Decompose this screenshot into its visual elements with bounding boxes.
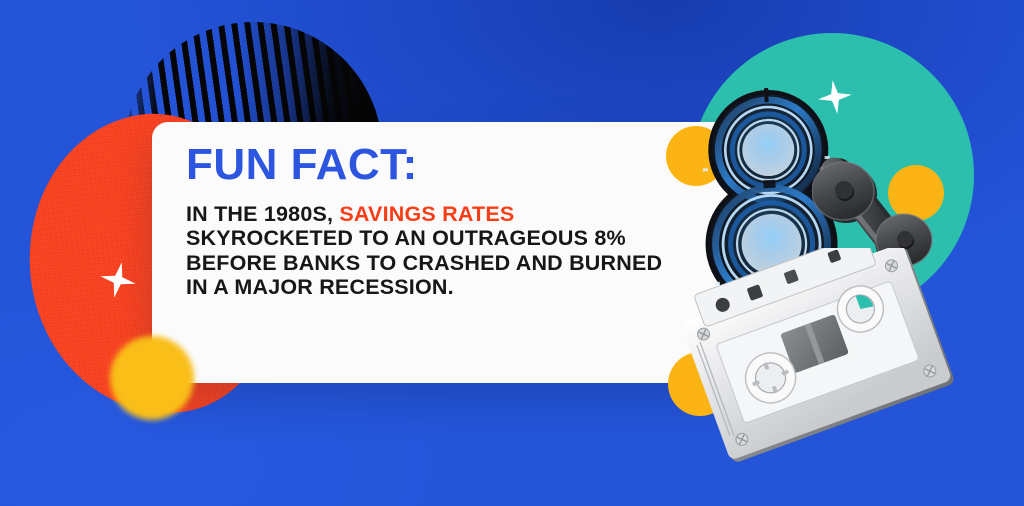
fun-fact-card: FUN FACT: IN THE 1980S, SAVINGS RATES SK… bbox=[152, 122, 742, 383]
fun-fact-graphic: FUN FACT: IN THE 1980S, SAVINGS RATES SK… bbox=[0, 0, 1024, 506]
body-highlight: SAVINGS RATES bbox=[339, 202, 514, 226]
page-title: FUN FACT: bbox=[186, 142, 722, 188]
card-content: FUN FACT: IN THE 1980S, SAVINGS RATES SK… bbox=[186, 142, 722, 300]
yellow-dot-left bbox=[110, 336, 194, 420]
body-rest: SKYROCKETED TO AN OUTRAGEOUS 8% BEFORE B… bbox=[186, 226, 662, 299]
body-line-plain: IN THE 1980S, bbox=[186, 202, 339, 226]
cassette-tape bbox=[678, 248, 960, 464]
fun-fact-body: IN THE 1980S, SAVINGS RATES SKYROCKETED … bbox=[186, 202, 666, 300]
